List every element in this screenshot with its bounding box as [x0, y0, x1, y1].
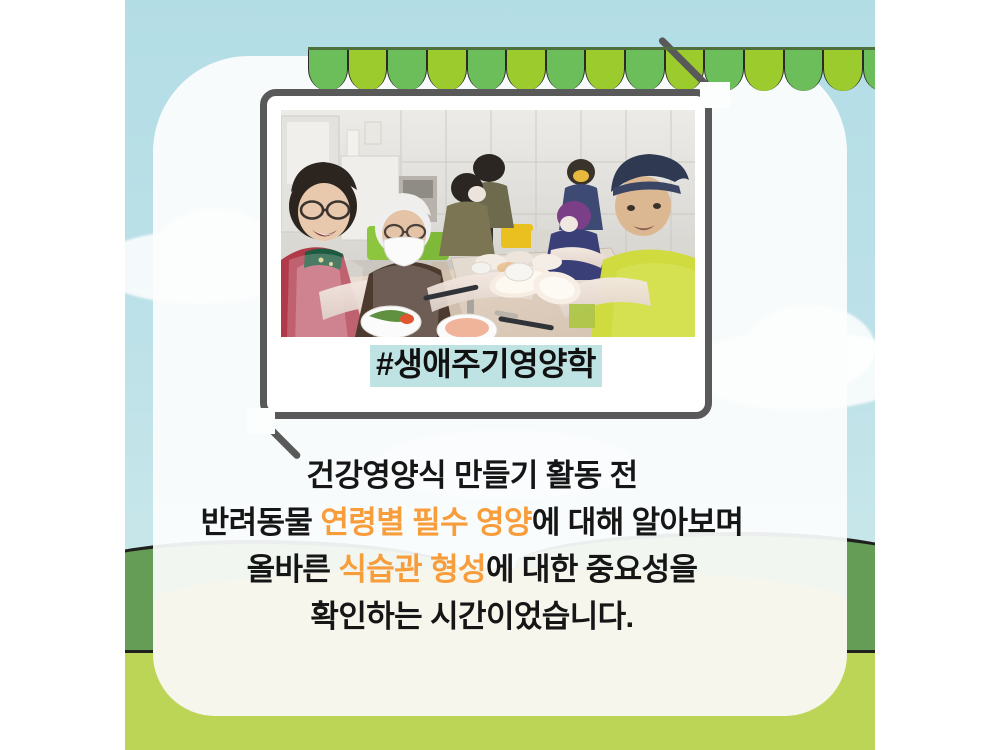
body-copy-highlight: 연령별 필수 영양: [320, 505, 531, 540]
body-copy-text: 에 대한 중요성을: [486, 552, 697, 587]
body-copy-highlight: 식습관 형성: [338, 552, 486, 587]
body-copy-line: 건강영양식 만들기 활동 전: [137, 452, 807, 499]
body-copy-text: 확인하는 시간이었습니다.: [310, 599, 633, 634]
body-copy: 건강영양식 만들기 활동 전반려동물 연령별 필수 영양에 대해 알아보며올바른…: [137, 452, 807, 640]
body-copy-text: 올바른: [247, 552, 339, 587]
hashtag-label: #생애주기영양학: [370, 345, 602, 387]
activity-photo-illustration: [281, 110, 695, 337]
body-copy-line: 반려동물 연령별 필수 영양에 대해 알아보며: [137, 499, 807, 546]
activity-photo: [281, 110, 695, 337]
frame-corner-cut-tr: [700, 82, 730, 108]
awning-scallop: [387, 47, 427, 91]
awning-scallop: [863, 47, 875, 91]
awning-scallop: [744, 47, 784, 91]
awning-scallop: [427, 47, 467, 91]
poster-stage: #생애주기영양학 건강영양식 만들기 활동 전반려동물 연령별 필수 영양에 대…: [0, 0, 1000, 750]
poster-canvas: #생애주기영양학 건강영양식 만들기 활동 전반려동물 연령별 필수 영양에 대…: [125, 0, 875, 750]
hashtag-row: #생애주기영양학: [260, 345, 712, 387]
body-copy-line: 확인하는 시간이었습니다.: [137, 593, 807, 640]
awning-scallop: [546, 47, 586, 91]
awning-scallop: [348, 47, 388, 91]
awning-scallop: [784, 47, 824, 91]
body-copy-text: 반려동물: [201, 505, 321, 540]
awning-scallop: [585, 47, 625, 91]
awning-scallop: [625, 47, 665, 91]
body-copy-line: 올바른 식습관 형성에 대한 중요성을: [137, 546, 807, 593]
frame-corner-cut-bl: [247, 408, 275, 434]
body-copy-text: 에 대해 알아보며: [532, 505, 743, 540]
awning-scallop: [823, 47, 863, 91]
awning-scallop: [308, 47, 348, 91]
awning-scallop: [506, 47, 546, 91]
body-copy-text: 건강영양식 만들기 활동 전: [306, 458, 637, 493]
awning-scallop: [467, 47, 507, 91]
